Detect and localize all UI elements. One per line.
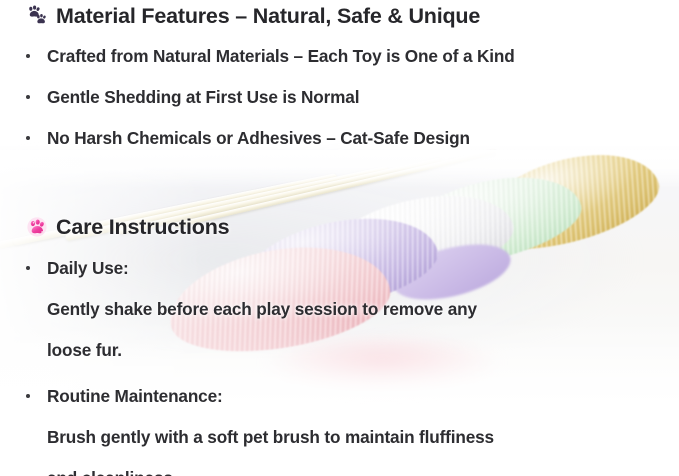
list-item-detail: and cleanliness. xyxy=(0,458,679,476)
bullet-dot-icon xyxy=(26,54,30,58)
list-item-label: Daily Use: xyxy=(47,258,129,278)
material-features-list: Crafted from Natural Materials – Each To… xyxy=(0,36,679,159)
pink-paw-print-icon xyxy=(26,216,48,238)
section-header-care-instructions: Care Instructions xyxy=(0,211,679,243)
list-item-detail: Brush gently with a soft pet brush to ma… xyxy=(0,417,679,458)
care-instructions-list: Daily Use: xyxy=(0,248,679,289)
list-item: Routine Maintenance: xyxy=(0,376,679,417)
list-item-label: Crafted from Natural Materials – Each To… xyxy=(47,46,515,66)
section-care-instructions: Care Instructions Daily Use: Gently shak… xyxy=(0,211,679,476)
section-material-features: Material Features – Natural, Safe & Uniq… xyxy=(0,0,679,159)
list-item: Daily Use: xyxy=(0,248,679,289)
care-instructions-list-2: Routine Maintenance: xyxy=(0,376,679,417)
bullet-dot-icon xyxy=(26,394,30,398)
bullet-dot-icon xyxy=(26,266,30,270)
list-item-label: Routine Maintenance: xyxy=(47,386,223,406)
list-item: Gentle Shedding at First Use is Normal xyxy=(0,77,679,118)
bullet-dot-icon xyxy=(26,95,30,99)
list-item: No Harsh Chemicals or Adhesives – Cat-Sa… xyxy=(0,118,679,159)
paw-print-icon xyxy=(26,5,48,27)
section-title: Care Instructions xyxy=(56,215,229,240)
section-header-material-features: Material Features – Natural, Safe & Uniq… xyxy=(0,0,679,32)
list-item-label: Gentle Shedding at First Use is Normal xyxy=(47,87,359,107)
infographic-text-content: Material Features – Natural, Safe & Uniq… xyxy=(0,0,679,476)
list-item-detail: Gently shake before each play session to… xyxy=(0,289,679,330)
list-item-detail: loose fur. xyxy=(0,330,679,371)
product-infographic-page: Material Features – Natural, Safe & Uniq… xyxy=(0,0,679,476)
bullet-dot-icon xyxy=(26,136,30,140)
list-item-label: No Harsh Chemicals or Adhesives – Cat-Sa… xyxy=(47,128,470,148)
list-item: Crafted from Natural Materials – Each To… xyxy=(0,36,679,77)
section-title: Material Features – Natural, Safe & Uniq… xyxy=(56,4,480,29)
